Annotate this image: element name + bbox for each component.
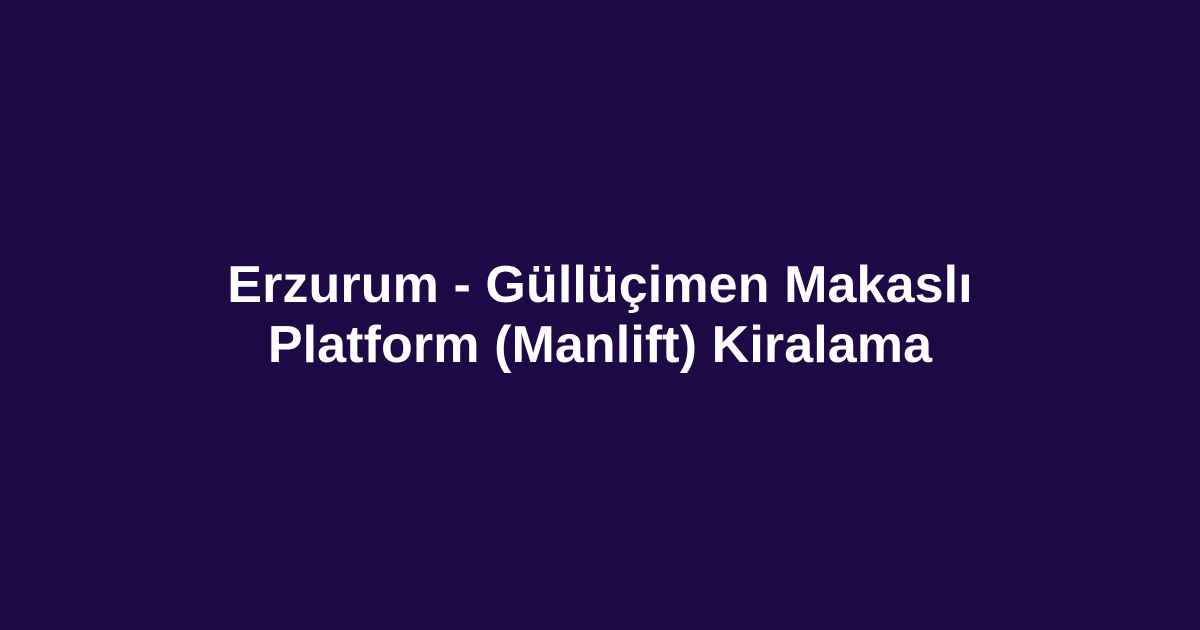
og-share-card: Erzurum - Güllüçimen Makaslı Platform (M… [0, 0, 1200, 630]
page-title-line-2: Platform (Manlift) Kiralama [227, 315, 972, 375]
card-content-wrapper: Erzurum - Güllüçimen Makaslı Platform (M… [150, 255, 1050, 375]
page-title: Erzurum - Güllüçimen Makaslı Platform (M… [227, 255, 972, 375]
page-title-line-1: Erzurum - Güllüçimen Makaslı [227, 255, 972, 315]
